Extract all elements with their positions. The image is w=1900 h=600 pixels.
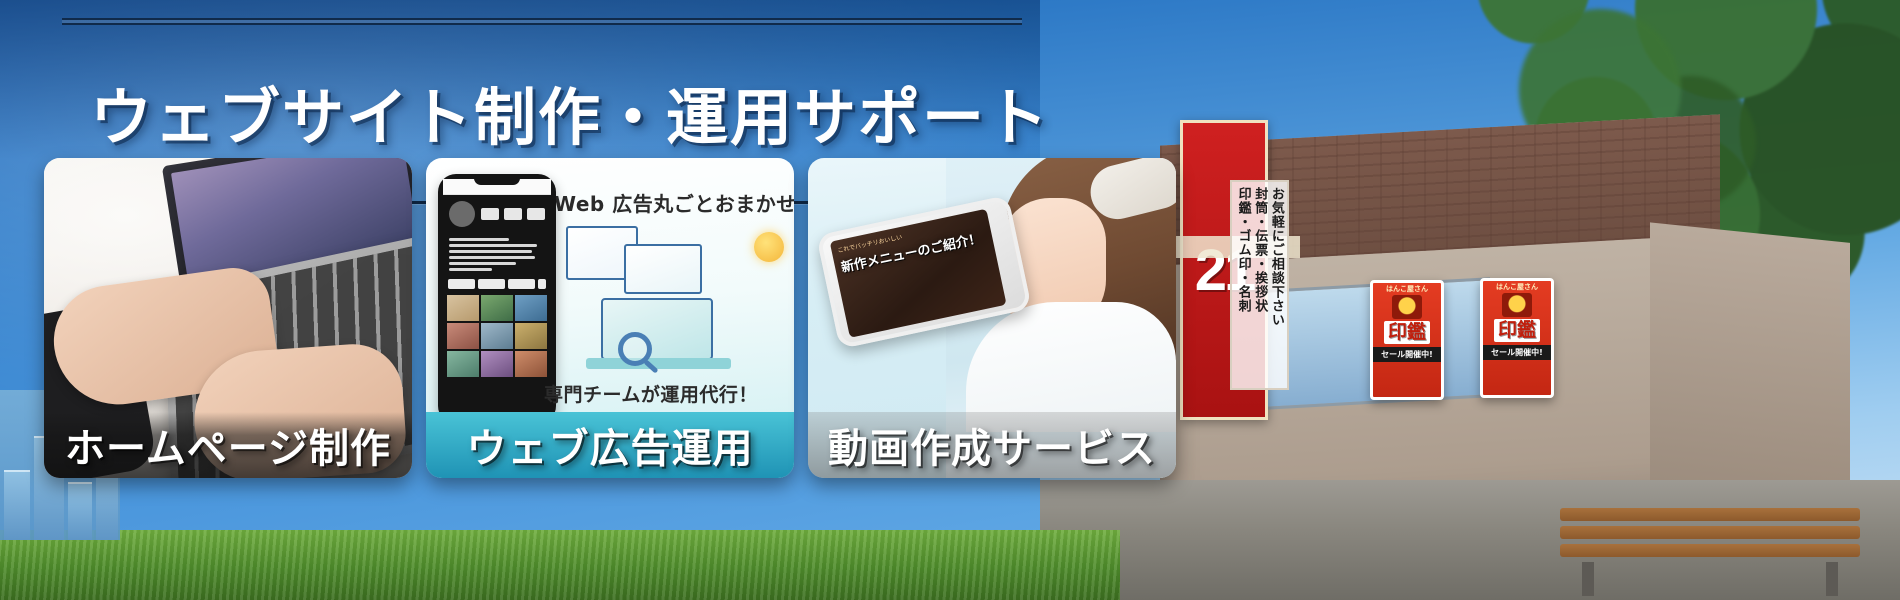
- hanko-sign-2: はんこ屋さん 印鑑 セール開催中!: [1480, 278, 1554, 398]
- service-card-label: ホームページ制作: [44, 412, 412, 478]
- person-icon-2: [708, 334, 726, 374]
- service-card-homepage-production[interactable]: ホームページ制作: [44, 158, 412, 478]
- shop-services-panel: お気軽にご相談下さい 封筒・伝票・挨拶状 印鑑・ゴム印・名刺: [1230, 180, 1289, 390]
- hanko-stamp-icon: [1392, 295, 1422, 319]
- bench: [1560, 508, 1860, 578]
- service-card-label: 動画作成サービス: [808, 412, 1176, 478]
- service-card-web-ad-operation[interactable]: Web 広告丸ごとおまかせ！: [426, 158, 794, 478]
- lightbulb-icon: [754, 232, 784, 262]
- hanko-sign-2-bottom: セール開催中!: [1483, 345, 1551, 360]
- hanko-sign-2-top: はんこ屋さん: [1496, 284, 1538, 291]
- page-title: ウェブサイト制作・運用サポート: [62, 67, 1022, 160]
- hanko-sign-2-main: 印鑑: [1494, 319, 1540, 342]
- video-caption: 新作メニューのご紹介！: [840, 231, 988, 276]
- hanko-sign-1-main: 印鑑: [1384, 321, 1430, 344]
- card2-subline: 専門チームが運用代行！: [544, 380, 758, 407]
- hanko-sign-1: はんこ屋さん 印鑑 セール開催中!: [1370, 280, 1444, 400]
- person-icon-3: [736, 326, 754, 366]
- title-rule-top: [62, 18, 1022, 25]
- service-card-video-creation[interactable]: これでバッチリおいしい 新作メニューのご紹介！ 動画作成サービス: [808, 158, 1176, 478]
- hanko-stamp-icon: [1502, 293, 1532, 317]
- magnifier-icon: [618, 332, 652, 366]
- shop-services-line-1: お気軽にご相談下さい: [1269, 187, 1283, 383]
- web-ad-illustration: [566, 226, 786, 376]
- shop-services-line-3: 印鑑・ゴム印・名刺: [1236, 187, 1250, 383]
- person-icon-1: [716, 234, 734, 274]
- grass-strip: [0, 530, 1120, 600]
- report-window-icon: [624, 244, 702, 294]
- smartphone-sns-icon: [438, 174, 556, 424]
- service-card-label: ウェブ広告運用: [426, 412, 794, 478]
- hanko-sign-1-bottom: セール開催中!: [1373, 347, 1441, 362]
- shop-services-line-2: 封筒・伝票・挨拶状: [1253, 187, 1267, 383]
- hero-banner: 21 お気軽にご相談下さい 封筒・伝票・挨拶状 印鑑・ゴム印・名刺 はんこ屋さん…: [0, 0, 1900, 600]
- hanko-sign-1-top: はんこ屋さん: [1386, 286, 1428, 293]
- service-card-list: ホームページ制作 Web 広告丸ごとおまかせ！: [44, 158, 1176, 478]
- card2-headline: Web 広告丸ごとおまかせ！: [554, 188, 794, 217]
